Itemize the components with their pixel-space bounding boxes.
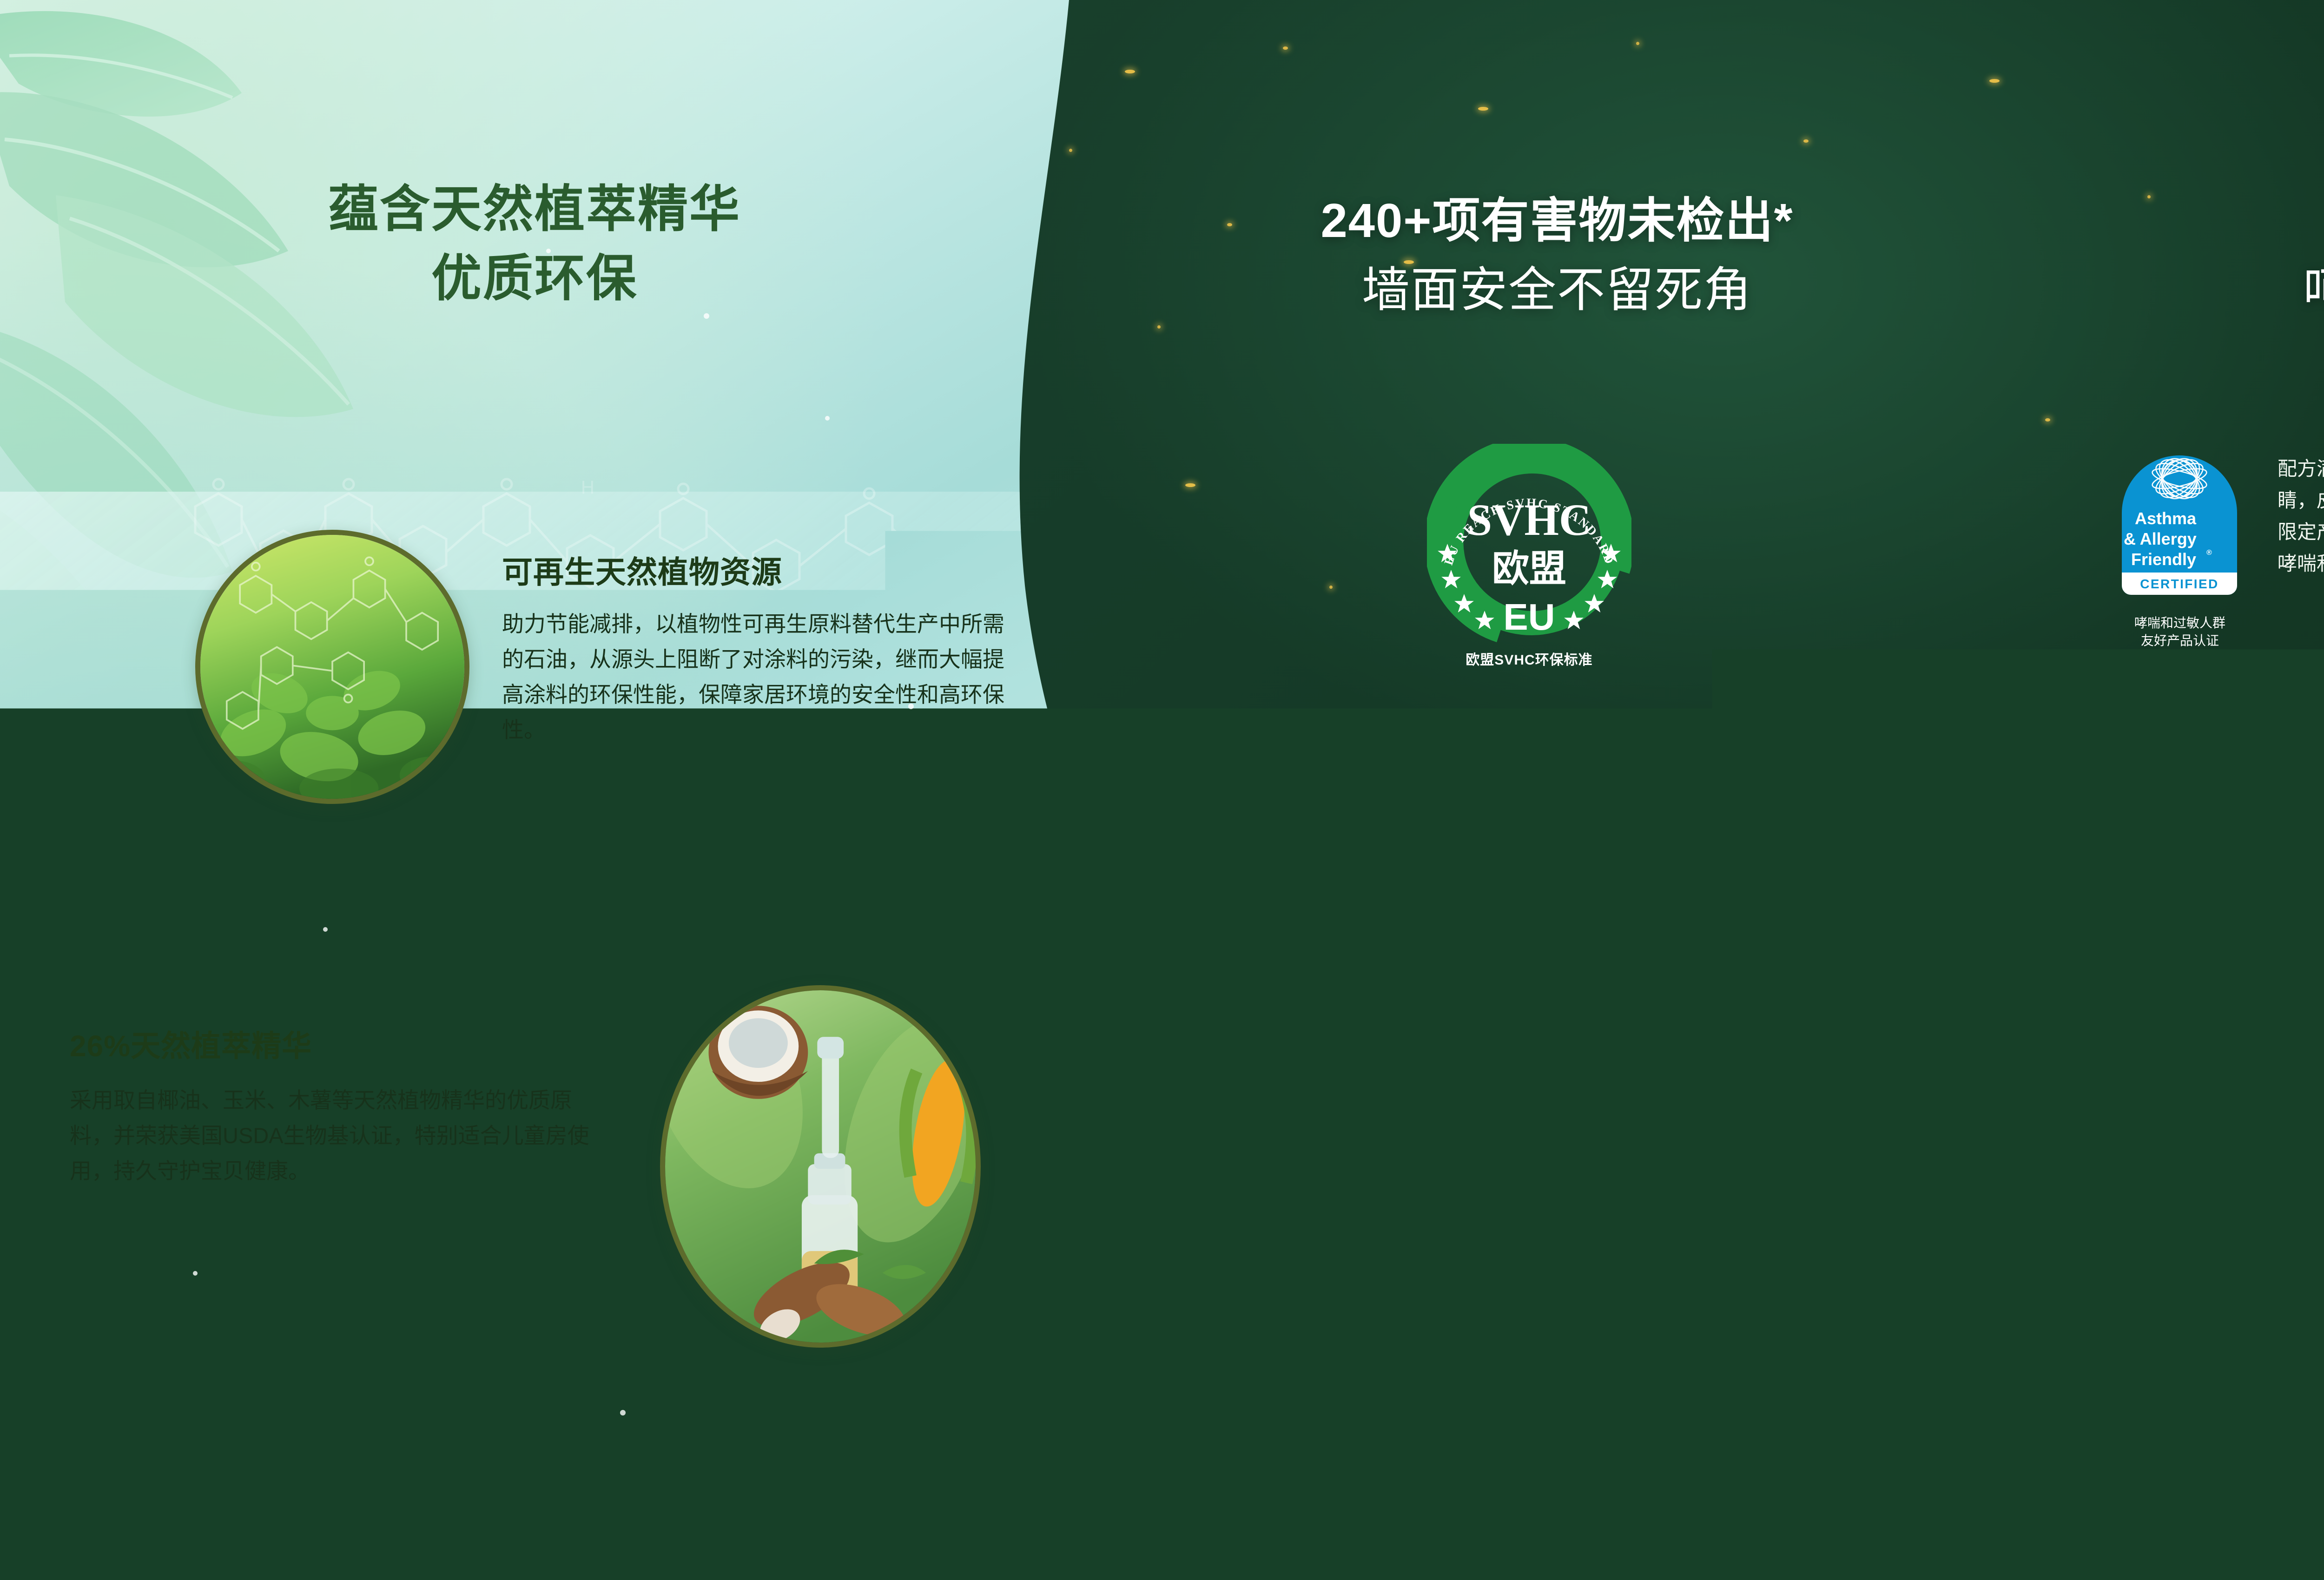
svhc-badge-caption: 欧盟SVHC环保标准 <box>1408 648 1650 669</box>
photo-lungs-pain <box>2114 1158 2324 1384</box>
middle-paragraph: 通过欧盟严苛的SVHC筛查240＋项有害物全部“未检出”，从重金属迁移到呼吸道刺… <box>1162 785 1943 860</box>
right-icon-1-bubble <box>2261 762 2324 865</box>
infographic-page: H N O OH 蕴含天然植萃精华 优质环保 <box>0 0 2324 1580</box>
aaf-certified: CERTIFIED <box>2140 577 2218 591</box>
svg-text:N: N <box>465 588 478 608</box>
svhc-badge-icon: EU REACH SVHC STANDARD SVHC 欧盟 EU <box>1427 444 1631 644</box>
feature-2-title: 从原料到成品的 “零容忍”管控 <box>1416 1097 1688 1158</box>
feature-3-sub: 附独立检测报告 <box>1688 1165 1961 1187</box>
svhc-badge: EU REACH SVHC STANDARD SVHC 欧盟 EU 欧盟SVHC… <box>1408 444 1650 669</box>
asthma-allergy-badge: Asthma & Allergy Friendly ® CERTIFIED 哮喘… <box>2113 446 2247 650</box>
stamp-check-icon <box>1795 1000 1854 1060</box>
aaf-line-1: Asthma <box>2135 509 2197 528</box>
photo-collage <box>2110 1092 2324 1417</box>
allergen-particles <box>2315 789 2324 843</box>
asthma-allergy-badge-icon: Asthma & Allergy Friendly ® CERTIFIED <box>2113 446 2247 609</box>
feature-2-bubble <box>1503 981 1601 1079</box>
feature-item-3: 给您看得见的 安心凭证 附独立检测报告 <box>1688 981 1961 1208</box>
person-mask-allergy-icon <box>2278 779 2324 849</box>
aaf-registered: ® <box>2206 549 2212 557</box>
aaf-caption: 哮喘和过敏人群 友好产品认证 <box>2113 614 2247 650</box>
extract-photo-art <box>665 990 976 1347</box>
middle-panel-title: 240+项有害物未检出* 墙面安全不留死角 <box>1111 186 2003 325</box>
feature-item-1: 检测范围广 安全不留死角 检测240+种有害物质 <box>1143 981 1416 1208</box>
right-paragraph-2: 限定产品中防腐剂的使用量在极低水平，以保障产品的使用安全，呵护哮喘和易敏人群的每… <box>2278 516 2324 579</box>
right-paragraph: 配方满足国际认证机构过敏标准有限公司刺激及致敏成分（例如对眼睛，皮肤和呼吸系统等… <box>2278 453 2324 579</box>
feature-1-title: 检测范围广 安全不留死角 <box>1143 1097 1416 1158</box>
middle-footnote: 240+项有害物质未检出*：根据欧盟法规（EC）No.1907/2006，产品经… <box>1162 1343 1943 1394</box>
left-panel-title: 蕴含天然植萃精华 优质环保 <box>0 174 1069 313</box>
right-paragraph-1: 配方满足国际认证机构过敏标准有限公司刺激及致敏成分（例如对眼睛，皮肤和呼吸系统等… <box>2278 453 2324 516</box>
card-2-heading: 26%天然植萃精华 <box>70 1022 312 1065</box>
magnifier-molecule-icon <box>1250 1000 1309 1060</box>
feature-item-2: 从原料到成品的 “零容忍”管控 拒绝“合规但含毒”成分 杜绝慢性危害 <box>1416 981 1688 1208</box>
card-2-body: 采用取自椰油、玉米、木薯等天然植物精华的优质原料，并荣获美国USDA生物基认证，… <box>70 1083 590 1189</box>
right-panel-title: 过敏友好 呵护敏感人群 <box>2054 186 2324 325</box>
plant-resource-photo <box>195 530 469 804</box>
right-icon-1-label: 直系亲属也曾 “小敏感” <box>2231 881 2324 940</box>
footnote-label: 240+项有害物质未检出*： <box>1162 1347 1335 1364</box>
middle-title-line-1: 240+项有害物未检出* <box>1111 186 2003 255</box>
feature-1-sub: 检测240+种有害物质 <box>1143 1165 1416 1187</box>
middle-feature-row: 检测范围广 安全不留死角 检测240+种有害物质 <box>1143 981 1961 1208</box>
recycle-arrows-icon <box>1522 1000 1582 1060</box>
svhc-main-text: SVHC <box>1467 495 1591 545</box>
right-title-line-1: 过敏友好 <box>2054 186 2324 255</box>
right-icon-item-1: 直系亲属也曾 “小敏感” <box>2231 762 2324 940</box>
feature-3-title: 给您看得见的 安心凭证 <box>1688 1097 1961 1158</box>
svhc-eu-text: EU <box>1503 596 1555 638</box>
card-1-heading: 可再生天然植物资源 <box>502 547 782 592</box>
svg-text:H: H <box>581 477 594 498</box>
feature-1-bubble <box>1230 981 1329 1079</box>
left-title-line-2: 优质环保 <box>0 244 1069 313</box>
left-panel: H N O OH 蕴含天然植萃精华 优质环保 <box>0 0 1236 1580</box>
feature-3-bubble <box>1775 981 1874 1079</box>
feature-2-sub: 拒绝“合规但含毒”成分 杜绝慢性危害 <box>1416 1165 1688 1208</box>
plant-photo-art <box>200 535 464 799</box>
aaf-line-2: & Allergy <box>2124 529 2197 548</box>
left-title-line-1: 蕴含天然植萃精华 <box>0 174 1069 244</box>
svhc-sub-text: 欧盟 <box>1492 548 1566 589</box>
photo-lungs-art <box>2119 1163 2324 1377</box>
right-icon-row: 直系亲属也曾 “小敏感” 家装建材存在 安全隐患 <box>2231 762 2324 940</box>
middle-title-line-2: 墙面安全不留死角 <box>1111 255 2003 324</box>
right-title-line-2: 呵护敏感人群 <box>2054 255 2324 324</box>
coconut <box>709 1006 808 1099</box>
aaf-line-3: Friendly <box>2131 550 2196 569</box>
natural-extract-photo <box>660 985 981 1348</box>
card-1-body: 助力节能减排，以植物性可再生原料替代生产中所需的石油，从源头上阻断了对涂料的污染… <box>502 606 1016 748</box>
